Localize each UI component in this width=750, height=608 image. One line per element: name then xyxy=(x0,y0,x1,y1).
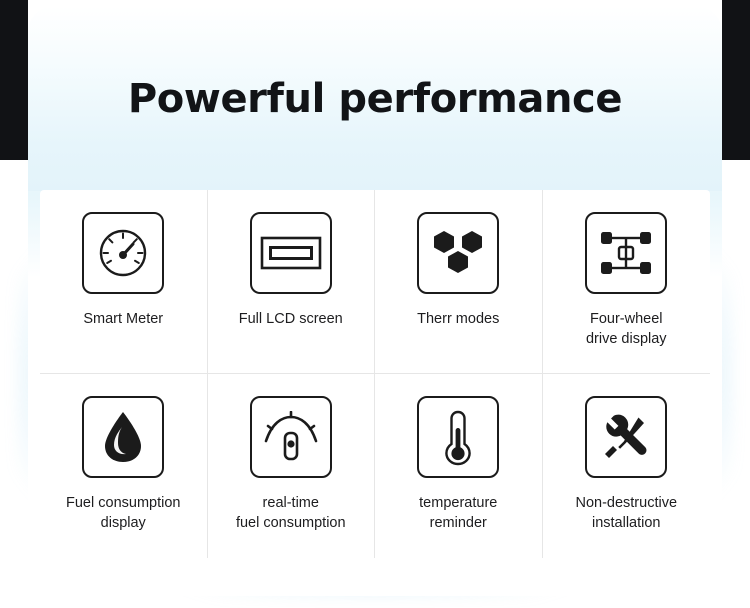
feature-label: Non-destructive installation xyxy=(575,494,677,533)
page-title: Powerful performance xyxy=(128,76,622,122)
hero-banner: Powerful performance xyxy=(28,6,722,191)
feature-label: real-time fuel consumption xyxy=(236,494,346,533)
feature-label: Fuel consumption display xyxy=(66,494,180,533)
thermometer-icon xyxy=(417,396,499,478)
wrench-screwdriver-icon xyxy=(585,396,667,478)
realtime-fuel-icon xyxy=(250,396,332,478)
feature-item-non-destructive-installation[interactable]: Non-destructive installation xyxy=(543,374,711,558)
feature-item-four-wheel-drive[interactable]: Four-wheel drive display xyxy=(543,190,711,374)
corner-bar-left xyxy=(0,0,28,160)
feature-label: Four-wheel drive display xyxy=(586,310,667,349)
lcd-screen-icon xyxy=(250,212,332,294)
four-wheel-drive-icon xyxy=(585,212,667,294)
feature-label: Smart Meter xyxy=(83,310,163,330)
feature-label: Full LCD screen xyxy=(239,310,343,330)
corner-bar-right xyxy=(722,0,750,160)
feature-item-realtime-fuel-consumption[interactable]: real-time fuel consumption xyxy=(208,374,376,558)
feature-item-temperature-reminder[interactable]: temperature reminder xyxy=(375,374,543,558)
fuel-drop-icon xyxy=(82,396,164,478)
feature-item-therr-modes[interactable]: Therr modes xyxy=(375,190,543,374)
feature-item-fuel-consumption-display[interactable]: Fuel consumption display xyxy=(40,374,208,558)
features-panel: Smart Meter Full LCD screen xyxy=(40,190,710,558)
feature-label: Therr modes xyxy=(417,310,499,330)
hexagons-icon xyxy=(417,212,499,294)
gauge-icon xyxy=(82,212,164,294)
feature-label: temperature reminder xyxy=(419,494,497,533)
feature-item-full-lcd-screen[interactable]: Full LCD screen xyxy=(208,190,376,374)
feature-item-smart-meter[interactable]: Smart Meter xyxy=(40,190,208,374)
page-root: Powerful performance xyxy=(0,0,750,608)
features-grid: Smart Meter Full LCD screen xyxy=(40,190,710,558)
